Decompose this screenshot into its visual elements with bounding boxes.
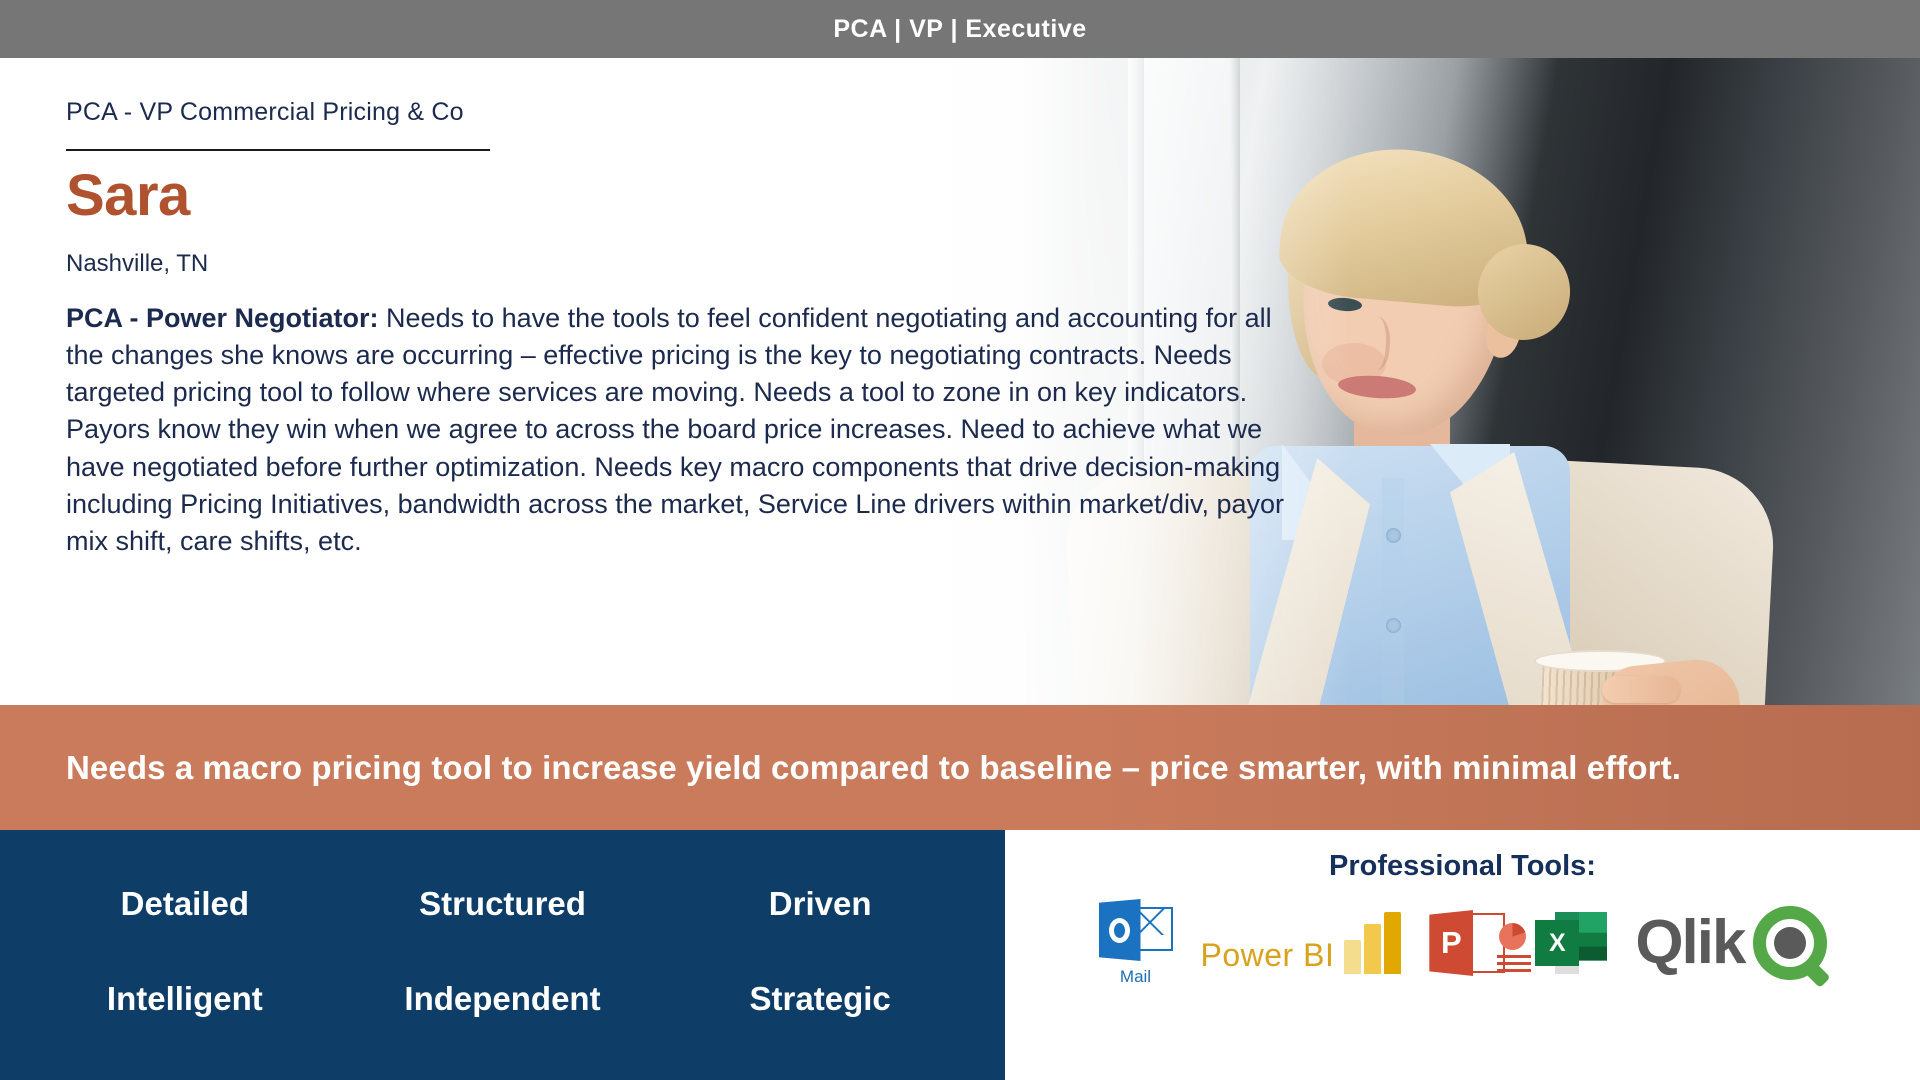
traits-panel: Detailed Structured Driven Intelligent I… <box>0 830 1005 1080</box>
key-need-text: Needs a macro pricing tool to increase y… <box>0 749 1721 787</box>
outlook-o-icon <box>1099 899 1141 961</box>
shirt-button <box>1386 618 1401 633</box>
persona-location: Nashville, TN <box>66 228 1320 300</box>
tool-excel[interactable]: X <box>1535 910 1607 976</box>
powerpoint-icon: P <box>1429 910 1507 976</box>
power-bi-icon: Power BI <box>1201 912 1402 974</box>
persona-role: PCA - VP Commercial Pricing & Co <box>66 98 1320 149</box>
trait-item: Intelligent <box>107 980 263 1018</box>
qlik-label: Qlik <box>1635 912 1744 974</box>
divider-rule <box>66 149 490 151</box>
pie-chart-icon <box>1499 923 1526 950</box>
qlik-mark-icon <box>1753 906 1827 980</box>
text-lines-icon <box>1497 955 1531 976</box>
tool-powerpoint[interactable]: P <box>1429 910 1507 976</box>
power-bi-label: Power BI <box>1201 937 1335 974</box>
bio-text: Needs to have the tools to feel confiden… <box>66 303 1284 557</box>
power-bi-bars-icon <box>1344 912 1401 974</box>
tools-title: Professional Tools: <box>1329 830 1596 883</box>
persona-content: PCA - VP Commercial Pricing & Co Sara Na… <box>0 58 1380 560</box>
excel-letter: X <box>1535 920 1579 966</box>
shirt-button <box>1386 528 1401 543</box>
letter-o-shape <box>1109 918 1130 943</box>
persona-bio: PCA - Power Negotiator: Needs to have th… <box>66 300 1316 561</box>
trait-item: Independent <box>404 980 600 1018</box>
excel-icon: X <box>1535 910 1607 976</box>
qlik-icon: Qlik <box>1635 906 1826 980</box>
key-need-banner: Needs a macro pricing tool to increase y… <box>0 705 1920 830</box>
trait-item: Structured <box>419 885 586 923</box>
trait-item: Detailed <box>121 885 249 923</box>
top-header-bar: PCA | VP | Executive <box>0 0 1920 58</box>
tool-qlik[interactable]: Qlik <box>1635 906 1826 980</box>
qlik-dot <box>1774 927 1806 959</box>
tool-outlook-mail[interactable]: Mail <box>1099 899 1173 987</box>
persona-slide: PCA | VP | Executive <box>0 0 1920 1080</box>
persona-name: Sara <box>66 165 1320 228</box>
header-title: PCA | VP | Executive <box>833 15 1086 44</box>
tool-power-bi[interactable]: Power BI <box>1201 912 1402 974</box>
outlook-mail-icon <box>1099 899 1173 963</box>
trait-item: Strategic <box>750 980 891 1018</box>
bio-label: PCA - Power Negotiator: <box>66 303 379 333</box>
tools-logo-row: Mail Power BI <box>1005 883 1920 987</box>
tools-panel: Professional Tools: Mail Power BI <box>1005 830 1920 1080</box>
trait-item: Driven <box>769 885 872 923</box>
bottom-row: Detailed Structured Driven Intelligent I… <box>0 830 1920 1080</box>
tool-caption: Mail <box>1120 963 1151 987</box>
powerpoint-letter: P <box>1429 910 1473 976</box>
finger <box>1602 676 1680 703</box>
